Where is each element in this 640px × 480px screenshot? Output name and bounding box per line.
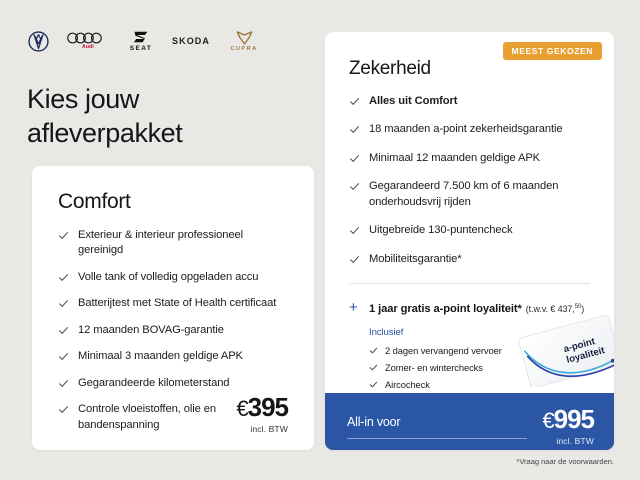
volkswagen-logo <box>28 31 49 52</box>
zekerheid-feature-list: Alles uit Comfort 18 maanden a-point zek… <box>349 94 590 267</box>
inclusief-title: Inclusief <box>369 327 590 338</box>
check-icon <box>58 230 69 241</box>
list-item-label: Mobiliteitsgarantie* <box>369 252 590 267</box>
currency-symbol: € <box>236 396 247 421</box>
list-item: 2 dagen vervangend vervoer <box>369 345 590 356</box>
list-item-label: 18 maanden a-point zekerheidsgarantie <box>369 122 590 137</box>
list-item: Exterieur & interieur professioneel gere… <box>58 228 288 259</box>
check-icon <box>58 298 69 309</box>
list-item: Aircocheck <box>369 379 590 390</box>
check-icon <box>349 181 360 192</box>
check-icon <box>58 351 69 362</box>
check-icon <box>58 378 69 389</box>
cupra-wordmark: CUPRA <box>230 46 257 52</box>
comfort-heading: Comfort <box>58 190 288 214</box>
check-icon <box>369 363 378 372</box>
page-title-line1: Kies jouw <box>27 84 139 114</box>
loyalty-title: 1 jaar gratis a-point loyaliteit* <box>369 303 522 315</box>
check-icon <box>369 380 378 389</box>
zekerheid-price: €995 <box>542 406 594 432</box>
plus-icon: + <box>349 300 360 315</box>
list-item: Zomer- en winterchecks <box>369 362 590 373</box>
list-item-label: Gegarandeerde kilometerstand <box>78 376 288 391</box>
list-item-label: Alles uit Comfort <box>369 94 590 109</box>
seat-logo: SEAT <box>127 30 155 52</box>
check-icon <box>349 96 360 107</box>
price-amount: 995 <box>554 404 594 434</box>
zekerheid-body: Zekerheid Alles uit Comfort 18 maanden a… <box>325 32 614 393</box>
list-item: Minimaal 3 maanden geldige APK <box>58 349 288 364</box>
loyalty-value: (t.w.v. € 437,50) <box>526 304 584 314</box>
check-icon <box>349 153 360 164</box>
check-icon <box>349 124 360 135</box>
brand-logo-bar: Audi SEAT SKODA CUPRA <box>28 28 261 54</box>
check-icon <box>58 325 69 336</box>
list-item-label: Batterijtest met State of Health certifi… <box>78 296 288 311</box>
comfort-price-block: €395 incl. BTW <box>236 394 288 434</box>
skoda-wordmark: SKODA <box>172 36 210 46</box>
check-icon <box>349 254 360 265</box>
list-item: Batterijtest met State of Health certifi… <box>58 296 288 311</box>
check-icon <box>58 404 69 415</box>
list-item: Uitgebreide 130-puntencheck <box>349 223 590 238</box>
list-item-label: Exterieur & interieur professioneel gere… <box>78 228 288 259</box>
loyalty-value-suffix: ) <box>581 304 584 314</box>
zekerheid-price-note: incl. BTW <box>542 436 594 446</box>
list-item-label: Minimaal 3 maanden geldige APK <box>78 349 288 364</box>
list-item-label: Zomer- en winterchecks <box>385 362 483 373</box>
loyalty-value-prefix: (t.w.v. € 437, <box>526 304 575 314</box>
list-item: Mobiliteitsgarantie* <box>349 252 590 267</box>
list-item-label: Volle tank of volledig opgeladen accu <box>78 270 288 285</box>
check-icon <box>58 272 69 283</box>
audi-logo: Audi <box>66 32 110 50</box>
list-item: Volle tank of volledig opgeladen accu <box>58 270 288 285</box>
list-item: Gegarandeerd 7.500 km of 6 maanden onder… <box>349 179 590 210</box>
audi-wordmark: Audi <box>82 44 94 50</box>
list-item-label: 12 maanden BOVAG-garantie <box>78 323 288 338</box>
section-divider <box>349 283 590 284</box>
loyalty-headline-row: + 1 jaar gratis a-point loyaliteit*(t.w.… <box>349 300 590 315</box>
inclusief-list: 2 dagen vervangend vervoer Zomer- en win… <box>369 345 590 393</box>
list-item-label: Gegarandeerd 7.500 km of 6 maanden onder… <box>369 179 590 210</box>
zekerheid-package-card[interactable]: MEEST GEKOZEN Zekerheid Alles uit Comfor… <box>325 32 614 450</box>
page-title-line2: afleverpakket <box>27 118 182 148</box>
zekerheid-price-footer: All-in voor €995 incl. BTW <box>325 393 614 450</box>
list-item: Minimaal 12 maanden geldige APK <box>349 151 590 166</box>
inclusief-block: Inclusief 2 dagen vervangend vervoer Zom… <box>369 327 590 393</box>
terms-footnote: *Vraag naar de voorwaarden. <box>516 457 614 466</box>
list-item: 12 maanden BOVAG-garantie <box>58 323 288 338</box>
allin-label: All-in voor <box>347 406 400 429</box>
price-amount: 395 <box>248 392 288 422</box>
check-icon <box>369 346 378 355</box>
list-item: 18 maanden a-point zekerheidsgarantie <box>349 122 590 137</box>
list-item: Gegarandeerde kilometerstand <box>58 376 288 391</box>
check-icon <box>349 225 360 236</box>
price-underline <box>347 438 527 439</box>
currency-symbol: € <box>542 408 553 433</box>
skoda-logo: SKODA <box>172 36 210 46</box>
status-badge: MEEST GEKOZEN <box>503 42 602 60</box>
list-item-label: Minimaal 12 maanden geldige APK <box>369 151 590 166</box>
comfort-price: €395 <box>236 394 288 420</box>
cupra-logo: CUPRA <box>227 30 261 52</box>
seat-wordmark: SEAT <box>130 45 152 52</box>
page-title: Kies jouw afleverpakket <box>27 82 182 150</box>
list-item-label: Uitgebreide 130-puntencheck <box>369 223 590 238</box>
comfort-package-card[interactable]: Comfort Exterieur & interieur profession… <box>32 166 314 450</box>
list-item-label: 2 dagen vervangend vervoer <box>385 345 502 356</box>
comfort-price-note: incl. BTW <box>236 424 288 434</box>
loyalty-headline: 1 jaar gratis a-point loyaliteit*(t.w.v.… <box>369 303 584 315</box>
zekerheid-price-block: €995 incl. BTW <box>542 406 594 446</box>
list-item: Alles uit Comfort <box>349 94 590 109</box>
zekerheid-heading: Zekerheid <box>349 58 590 80</box>
list-item-label: Aircocheck <box>385 379 430 390</box>
